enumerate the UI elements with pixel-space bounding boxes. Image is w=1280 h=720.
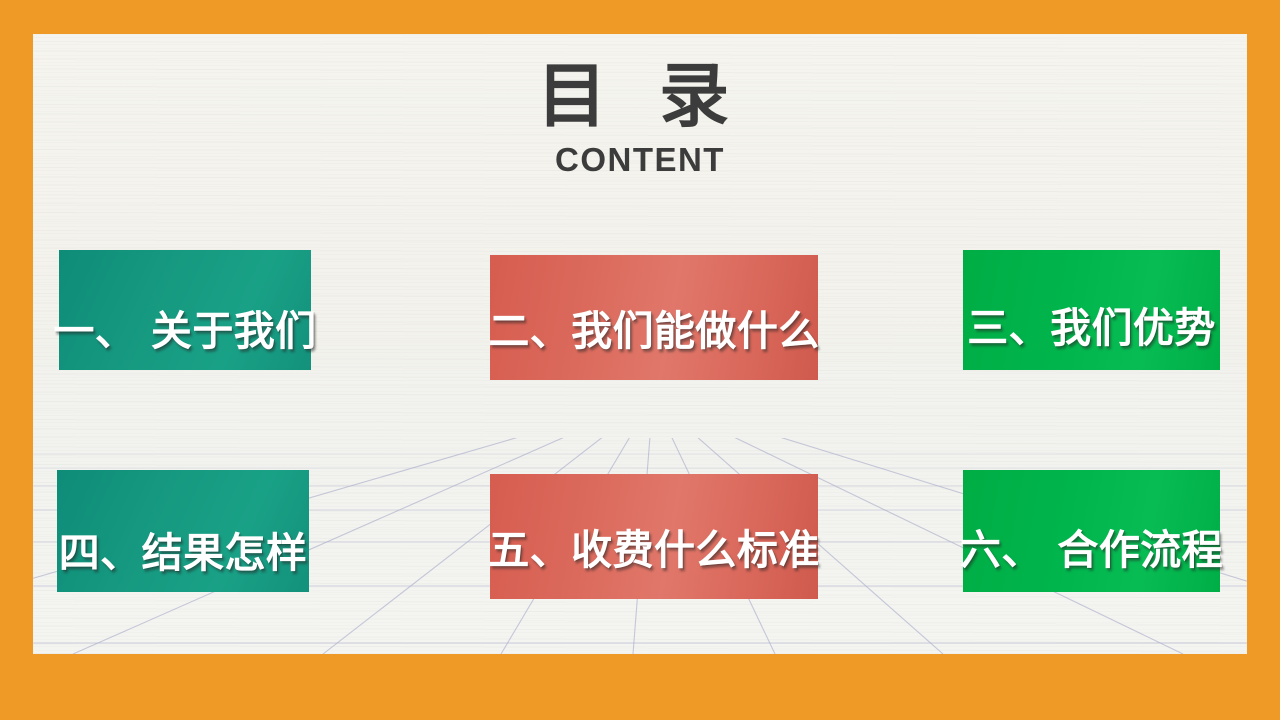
agenda-item-1-label: 一、 关于我们 (53, 297, 316, 370)
slide-header: 目 录 CONTENT (33, 34, 1247, 179)
agenda-item-1[interactable]: 一、 关于我们 (59, 250, 311, 370)
agenda-item-6-label: 六、 合作流程 (960, 516, 1223, 592)
slide-content-area: 目 录 CONTENT 一、 关于我们 二、我们能做什么 三、我们优势 四、结果… (33, 34, 1247, 654)
page-title-chinese: 目 录 (33, 34, 1247, 135)
agenda-item-5-label: 五、收费什么标准 (488, 516, 819, 599)
agenda-item-2-label: 二、我们能做什么 (488, 297, 819, 380)
agenda-item-3-label: 三、我们优势 (967, 294, 1215, 370)
agenda-item-5[interactable]: 五、收费什么标准 (490, 474, 818, 599)
slide-canvas: 目 录 CONTENT 一、 关于我们 二、我们能做什么 三、我们优势 四、结果… (0, 0, 1280, 720)
agenda-item-6[interactable]: 六、 合作流程 (963, 470, 1220, 592)
page-title-english: CONTENT (33, 135, 1247, 179)
agenda-item-4-label: 四、结果怎样 (59, 519, 307, 592)
agenda-item-3[interactable]: 三、我们优势 (963, 250, 1220, 370)
agenda-item-4[interactable]: 四、结果怎样 (57, 470, 309, 592)
agenda-item-2[interactable]: 二、我们能做什么 (490, 255, 818, 380)
